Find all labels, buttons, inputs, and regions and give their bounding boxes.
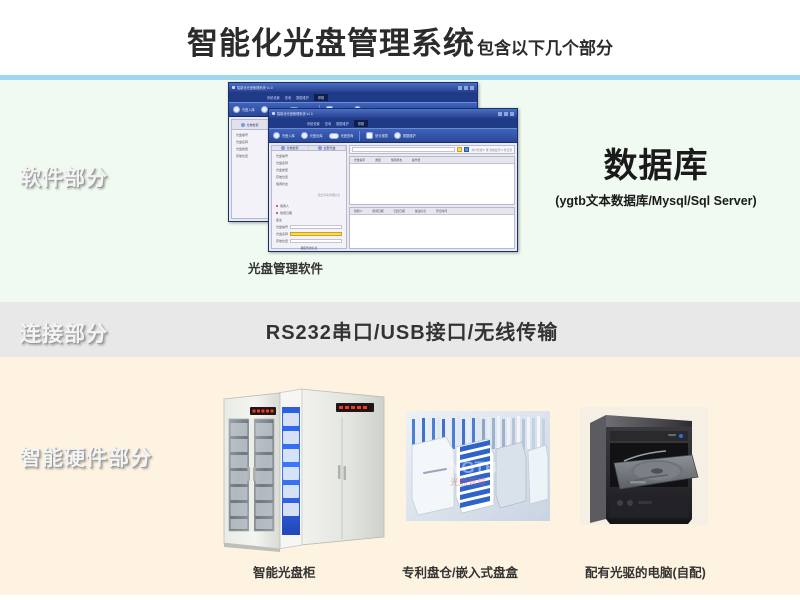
toolbar-label-5: 数据维护 bbox=[403, 133, 416, 138]
disc-in-icon bbox=[273, 132, 280, 139]
field-row: 光盘编号 bbox=[276, 154, 342, 158]
tab-category[interactable]: 分类检索 bbox=[232, 120, 269, 129]
page-title-suffix: 包含以下几个部分 bbox=[477, 34, 613, 59]
window-titlebar: 智能化光盘管理系统 v1.0 bbox=[269, 109, 517, 118]
gear-icon bbox=[366, 132, 373, 139]
grid-column: 借阅日期 bbox=[372, 209, 383, 213]
software-screenshots: 智能化光盘管理系统 v1.0 系统设置 查询 数据维护 帮助 光盘入库 bbox=[228, 82, 520, 252]
computer-with-drive-illustration bbox=[580, 407, 708, 525]
data-grid-lower[interactable]: 借阅人 借阅日期 归还日期 备注信息 登记时间 bbox=[349, 207, 515, 249]
menu-item-0[interactable]: 系统设置 bbox=[307, 121, 320, 126]
toolbar-button-2[interactable]: 光盘查询 bbox=[329, 133, 354, 139]
window-titlebar: 智能化光盘管理系统 v1.0 bbox=[229, 83, 477, 92]
page-header: 智能化光盘管理系统 包含以下几个部分 bbox=[0, 0, 800, 80]
svg-text:光盘管理: 光盘管理 bbox=[450, 476, 486, 488]
grid-header: 借阅人 借阅日期 归还日期 备注信息 登记时间 bbox=[350, 208, 514, 215]
maximize-icon[interactable] bbox=[464, 86, 468, 90]
tab-label-0: 分类检索 bbox=[286, 146, 298, 150]
window-title: 智能化光盘管理系统 v1.0 bbox=[277, 111, 313, 116]
menu-item-2[interactable]: 数据维护 bbox=[296, 95, 309, 100]
field-row: 光盘名称 bbox=[276, 161, 342, 165]
field-row: 借阅日期 bbox=[276, 211, 342, 215]
field-label: 存放位置 bbox=[276, 175, 288, 179]
database-icon bbox=[394, 132, 401, 139]
section-connect: 连接部分 RS232串口/USB接口/无线传输 bbox=[0, 302, 800, 357]
smart-disc-cabinet-illustration bbox=[216, 377, 388, 552]
field-row: 存放位置 bbox=[276, 175, 342, 179]
grid-empty-area bbox=[350, 215, 514, 248]
grid-header: 光盘编号 类型 借阅状态 操作员 bbox=[350, 157, 514, 164]
field-label: 借阅状态 bbox=[276, 182, 288, 186]
menu-item-1[interactable]: 查询 bbox=[285, 95, 291, 100]
grid-empty-area bbox=[350, 164, 514, 204]
toolbar-button-0[interactable]: 光盘入库 bbox=[233, 106, 255, 113]
folder-icon bbox=[281, 146, 285, 150]
maximize-icon[interactable] bbox=[504, 112, 508, 116]
left-panel-fields: 光盘编号 光盘名称 光盘类型 存放位置 借阅状态 双击查看详细信息 借阅人 借阅… bbox=[272, 151, 346, 246]
grid-column: 借阅人 bbox=[354, 209, 362, 213]
text-input[interactable] bbox=[290, 225, 342, 229]
field-label: 光盘名称 bbox=[276, 161, 288, 165]
menu-item-1[interactable]: 查询 bbox=[325, 121, 331, 126]
search-bar[interactable]: 共计光盘 0 张 当前显示 0 条记录 bbox=[349, 145, 515, 154]
caption-smart-disc-cabinet: 智能光盘柜 bbox=[253, 562, 316, 581]
minimize-icon[interactable] bbox=[498, 112, 502, 116]
field-row: 备注 bbox=[276, 218, 342, 222]
image-smart-disc-cabinet bbox=[216, 377, 388, 552]
toolbar-label-3: 统计报表 bbox=[375, 133, 388, 138]
patent-disc-tray-illustration: YGTB 光盘管理 bbox=[406, 411, 550, 521]
search-button[interactable] bbox=[457, 147, 462, 152]
menu-item-0[interactable]: 系统设置 bbox=[267, 95, 280, 100]
input-row[interactable]: 存放位置 bbox=[276, 239, 342, 243]
caption-software: 光盘管理软件 bbox=[248, 258, 323, 277]
field-label: 光盘编号 bbox=[236, 133, 248, 137]
field-label: 备注 bbox=[276, 218, 282, 222]
window-controls[interactable] bbox=[498, 112, 514, 116]
toolbar-label-0: 光盘入库 bbox=[242, 107, 255, 112]
tab-category[interactable]: 分类检索 bbox=[272, 146, 309, 150]
left-panel: 分类检索 全部光盘 光盘编号 光盘名称 光盘类型 存放位置 借阅状态 双击查 bbox=[271, 145, 347, 249]
search-hint: 共计光盘 0 张 当前显示 0 条记录 bbox=[471, 148, 512, 152]
menu-item-3[interactable]: 帮助 bbox=[314, 94, 328, 101]
required-marker bbox=[276, 205, 278, 207]
window-toolbar[interactable]: 光盘入库 光盘出库 光盘查询 统计报表 数据维护 bbox=[269, 128, 517, 143]
menu-item-2[interactable]: 数据维护 bbox=[336, 121, 349, 126]
grid-column: 操作员 bbox=[412, 158, 420, 162]
minimize-icon[interactable] bbox=[458, 86, 462, 90]
right-panel: 共计光盘 0 张 当前显示 0 条记录 光盘编号 类型 借阅状态 操作员 bbox=[349, 145, 515, 249]
section-label-hardware: 智能硬件部分 bbox=[20, 442, 152, 472]
field-label: 借阅人 bbox=[280, 204, 289, 208]
app-window-front: 智能化光盘管理系统 v1.0 系统设置 查询 数据维护 帮助 光盘入库 bbox=[268, 108, 518, 252]
tab-all-discs[interactable]: 全部光盘 bbox=[309, 146, 346, 150]
field-label: 光盘名称 bbox=[236, 140, 248, 144]
toolbar-separator bbox=[359, 131, 360, 141]
text-input[interactable] bbox=[290, 239, 342, 243]
connect-description: RS232串口/USB接口/无线传输 bbox=[0, 316, 800, 345]
section-software: 软件部分 智能化光盘管理系统 v1.0 系统设置 查询 数据维护 帮助 bbox=[0, 80, 800, 302]
field-label: 光盘编号 bbox=[276, 154, 288, 158]
disc-out-icon bbox=[261, 106, 268, 113]
menu-item-3[interactable]: 帮助 bbox=[354, 120, 368, 127]
grid-column: 归还日期 bbox=[394, 209, 405, 213]
window-controls[interactable] bbox=[458, 86, 474, 90]
grid-column: 光盘编号 bbox=[354, 158, 365, 162]
search-input[interactable] bbox=[352, 147, 455, 152]
disc-icon bbox=[318, 146, 322, 150]
section-label-software: 软件部分 bbox=[20, 162, 108, 192]
search-icon bbox=[329, 133, 339, 139]
input-row[interactable]: 光盘编号 bbox=[276, 225, 342, 229]
input-label: 光盘编号 bbox=[276, 225, 288, 229]
folder-icon bbox=[241, 123, 245, 127]
section-hardware: 智能硬件部分 bbox=[0, 357, 800, 595]
close-icon[interactable] bbox=[470, 86, 474, 90]
input-row[interactable]: 光盘名称 bbox=[276, 232, 342, 236]
field-label: 光盘类型 bbox=[276, 168, 288, 172]
toolbar-button-3[interactable]: 统计报表 bbox=[366, 132, 388, 139]
toolbar-label-2: 光盘查询 bbox=[341, 133, 354, 138]
refresh-button[interactable] bbox=[464, 147, 469, 152]
field-row: 光盘类型 bbox=[276, 168, 342, 172]
page-title-main: 智能化光盘管理系统 bbox=[187, 18, 475, 63]
grid-column: 借阅状态 bbox=[391, 158, 402, 162]
input-label: 存放位置 bbox=[276, 239, 288, 243]
window-menubar[interactable]: 系统设置 查询 数据维护 帮助 bbox=[269, 118, 517, 128]
toolbar-button-4[interactable]: 数据维护 bbox=[394, 132, 416, 139]
toolbar-button-0[interactable]: 光盘入库 bbox=[273, 132, 295, 139]
field-row: 借阅状态 bbox=[276, 182, 342, 186]
tab-label-1: 全部光盘 bbox=[323, 146, 335, 150]
caption-patent-disc-tray: 专利盘仓/嵌入式盘盒 bbox=[402, 562, 518, 581]
window-icon bbox=[232, 86, 235, 89]
caption-computer-with-drive: 配有光驱的电脑(自配) bbox=[585, 562, 706, 581]
disc-in-icon bbox=[233, 106, 240, 113]
confirm-button[interactable]: 确定修改信息 bbox=[272, 246, 346, 252]
data-grid-upper[interactable]: 光盘编号 类型 借阅状态 操作员 bbox=[349, 156, 515, 205]
svg-text:YGTB: YGTB bbox=[450, 458, 497, 477]
database-title: 数据库 bbox=[520, 138, 792, 187]
page-title: 智能化光盘管理系统 包含以下几个部分 bbox=[187, 18, 613, 63]
highlighted-input[interactable] bbox=[290, 232, 342, 236]
input-label: 光盘名称 bbox=[276, 232, 288, 236]
required-marker bbox=[276, 212, 278, 214]
grid-column: 类型 bbox=[375, 158, 381, 162]
window-icon bbox=[272, 112, 275, 115]
toolbar-label-0: 光盘入库 bbox=[282, 133, 295, 138]
field-label: 借阅日期 bbox=[280, 211, 292, 215]
close-icon[interactable] bbox=[510, 112, 514, 116]
field-label: 光盘类型 bbox=[236, 147, 248, 151]
tab-label-0: 分类检索 bbox=[246, 123, 258, 127]
window-body: 分类检索 全部光盘 光盘编号 光盘名称 光盘类型 存放位置 借阅状态 双击查 bbox=[269, 143, 517, 251]
window-menubar[interactable]: 系统设置 查询 数据维护 帮助 bbox=[229, 92, 477, 102]
database-subtitle: (ygtb文本数据库/Mysql/Sql Server) bbox=[520, 190, 792, 209]
toolbar-label-1: 光盘出库 bbox=[310, 133, 323, 138]
grid-column: 登记时间 bbox=[436, 209, 447, 213]
grid-column: 备注信息 bbox=[415, 209, 426, 213]
field-row: 借阅人 bbox=[276, 204, 342, 208]
image-patent-disc-tray: YGTB 光盘管理 bbox=[406, 411, 550, 521]
disc-out-icon bbox=[301, 132, 308, 139]
window-title: 智能化光盘管理系统 v1.0 bbox=[237, 85, 273, 90]
database-block: 数据库 (ygtb文本数据库/Mysql/Sql Server) bbox=[520, 138, 792, 209]
toolbar-button-1[interactable]: 光盘出库 bbox=[301, 132, 323, 139]
field-label: 存放位置 bbox=[236, 154, 248, 158]
image-computer-with-drive bbox=[580, 407, 708, 525]
left-panel-note: 双击查看详细信息 bbox=[278, 193, 340, 197]
